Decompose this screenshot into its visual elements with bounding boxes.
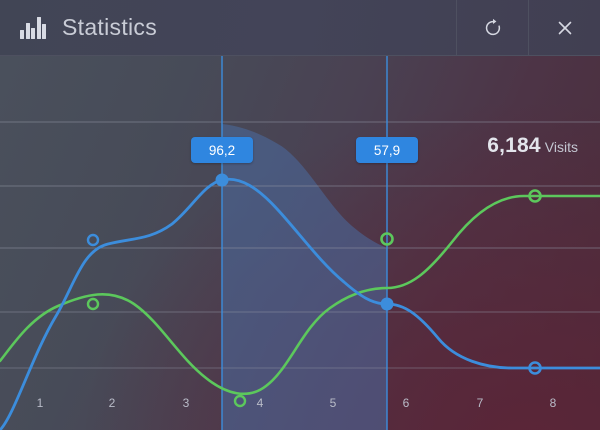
window-header: Statistics — [0, 0, 600, 56]
x-tick-6: 6 — [391, 396, 421, 410]
title-zone: Statistics — [0, 0, 456, 55]
x-tick-1: 1 — [25, 396, 55, 410]
x-tick-5: 5 — [318, 396, 348, 410]
visits-summary: 6,184Visits — [487, 134, 578, 158]
statistics-window: Statistics — [0, 0, 600, 430]
x-tick-2: 2 — [97, 396, 127, 410]
x-axis: 1 2 3 4 5 6 7 8 — [0, 56, 600, 430]
x-tick-8: 8 — [538, 396, 568, 410]
tooltip-series-blue[interactable]: 96,2 — [191, 137, 253, 163]
chart-canvas[interactable]: 1 2 3 4 5 6 7 8 96,2 57,9 6,184Visits — [0, 56, 600, 430]
visits-label: Visits — [545, 139, 578, 155]
visits-count: 6,184 — [487, 134, 541, 157]
refresh-icon — [483, 18, 503, 38]
x-tick-3: 3 — [171, 396, 201, 410]
refresh-button[interactable] — [456, 0, 528, 55]
bar-chart-icon — [20, 17, 46, 39]
tooltip-series-green[interactable]: 57,9 — [356, 137, 418, 163]
x-tick-7: 7 — [465, 396, 495, 410]
close-button[interactable] — [528, 0, 600, 55]
x-tick-4: 4 — [245, 396, 275, 410]
page-title: Statistics — [62, 14, 157, 41]
close-icon — [556, 19, 574, 37]
